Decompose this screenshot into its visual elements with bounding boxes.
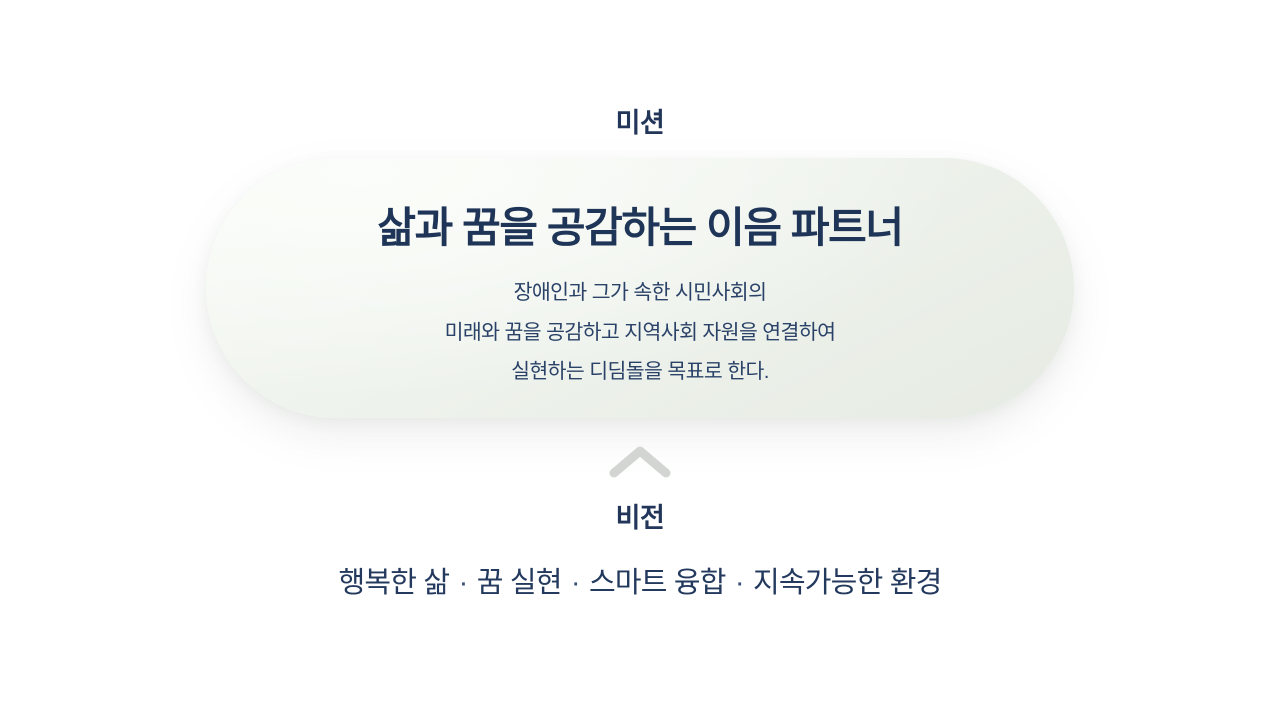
vision-item: 스마트 융합 [589, 567, 726, 599]
mission-headline: 삶과 꿈을 공감하는 이음 파트너 [377, 205, 902, 251]
vision-statement: 행복한 삶 · 꿈 실현 · 스마트 융합 · 지속가능한 환경 [0, 566, 1280, 601]
mission-card-content: 삶과 꿈을 공감하는 이음 파트너 장애인과 그가 속한 시민사회의 미래와 꿈… [206, 158, 1074, 418]
chevron-up-icon [608, 443, 672, 479]
vision-separator: · [457, 567, 470, 599]
mission-vision-page: 미션 삶과 꿈을 공감하는 이음 파트너 장애인과 그가 속한 시민사회의 미래… [0, 0, 1280, 720]
vision-item: 지속가능한 환경 [753, 567, 941, 599]
mission-body-line: 장애인과 그가 속한 시민사회의 [445, 273, 836, 312]
connector-section [0, 443, 1280, 479]
mission-body-line: 미래와 꿈을 공감하고 지역사회 자원을 연결하여 [445, 313, 836, 352]
mission-card: 삶과 꿈을 공감하는 이음 파트너 장애인과 그가 속한 시민사회의 미래와 꿈… [206, 158, 1074, 418]
vision-label: 비전 [0, 505, 1280, 532]
vision-item: 꿈 실현 [477, 567, 562, 599]
vision-separator: · [569, 567, 582, 599]
mission-body-line: 실현하는 디딤돌을 목표로 한다. [445, 352, 836, 391]
vision-separator: · [733, 567, 746, 599]
vision-item: 행복한 삶 [339, 567, 450, 599]
mission-body: 장애인과 그가 속한 시민사회의 미래와 꿈을 공감하고 지역사회 자원을 연결… [445, 273, 836, 391]
mission-label: 미션 [0, 110, 1280, 137]
